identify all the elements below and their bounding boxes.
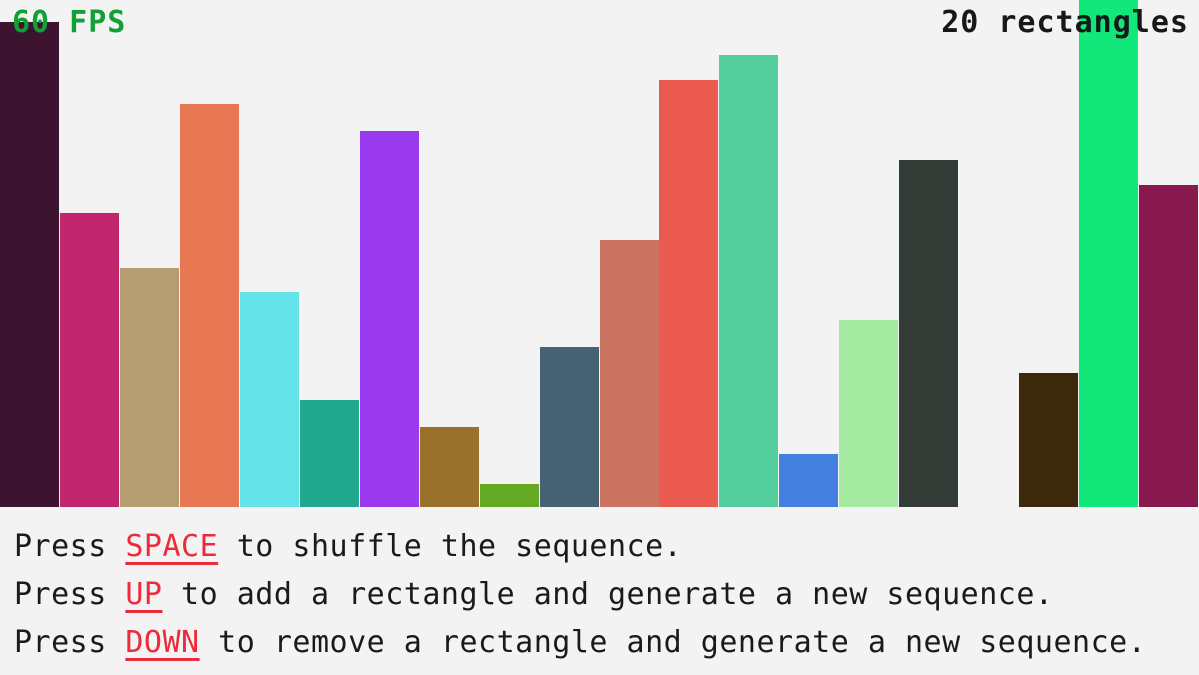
app-canvas: 60 FPS 20 rectangles Press SPACE to shuf… bbox=[0, 0, 1199, 675]
instruction-suffix: to remove a rectangle and generate a new… bbox=[200, 625, 1147, 660]
rectangle-count-label: 20 rectangles bbox=[941, 8, 1189, 38]
fps-counter: 60 FPS bbox=[12, 8, 126, 38]
bar-rectangle bbox=[779, 454, 838, 507]
bar-rectangle bbox=[899, 160, 958, 507]
bar-rectangle bbox=[1139, 185, 1198, 507]
instruction-line-3: Press DOWN to remove a rectangle and gen… bbox=[0, 619, 1199, 667]
instruction-suffix: to shuffle the sequence. bbox=[218, 529, 682, 564]
instruction-line-1: Press SPACE to shuffle the sequence. bbox=[0, 523, 1199, 571]
bar-rectangle bbox=[1019, 373, 1078, 507]
bar-rectangle bbox=[300, 400, 359, 507]
key-hint-space[interactable]: SPACE bbox=[125, 529, 218, 564]
bar-rectangle bbox=[180, 104, 239, 507]
bar-rectangle bbox=[240, 292, 299, 507]
bar-rectangle bbox=[659, 80, 718, 507]
bar-rectangle bbox=[420, 427, 479, 507]
instruction-suffix: to add a rectangle and generate a new se… bbox=[163, 577, 1054, 612]
instruction-line-2: Press UP to add a rectangle and generate… bbox=[0, 571, 1199, 619]
bar-rectangle bbox=[0, 22, 59, 507]
instruction-prefix: Press bbox=[14, 577, 125, 612]
bar-rectangle bbox=[120, 268, 179, 507]
bar-chart bbox=[0, 0, 1199, 507]
bar-rectangle bbox=[360, 131, 419, 507]
key-hint-up[interactable]: UP bbox=[125, 577, 162, 612]
bar-rectangle bbox=[719, 55, 778, 507]
bar-rectangle bbox=[480, 484, 539, 507]
bar-rectangle bbox=[1079, 0, 1138, 507]
instruction-prefix: Press bbox=[14, 529, 125, 564]
bar-rectangle bbox=[60, 213, 119, 507]
key-hint-down[interactable]: DOWN bbox=[125, 625, 199, 660]
instruction-prefix: Press bbox=[14, 625, 125, 660]
bar-rectangle bbox=[600, 240, 659, 507]
bar-rectangle bbox=[540, 347, 599, 507]
instructions-panel: Press SPACE to shuffle the sequence.Pres… bbox=[0, 507, 1199, 675]
bar-rectangle bbox=[839, 320, 898, 507]
